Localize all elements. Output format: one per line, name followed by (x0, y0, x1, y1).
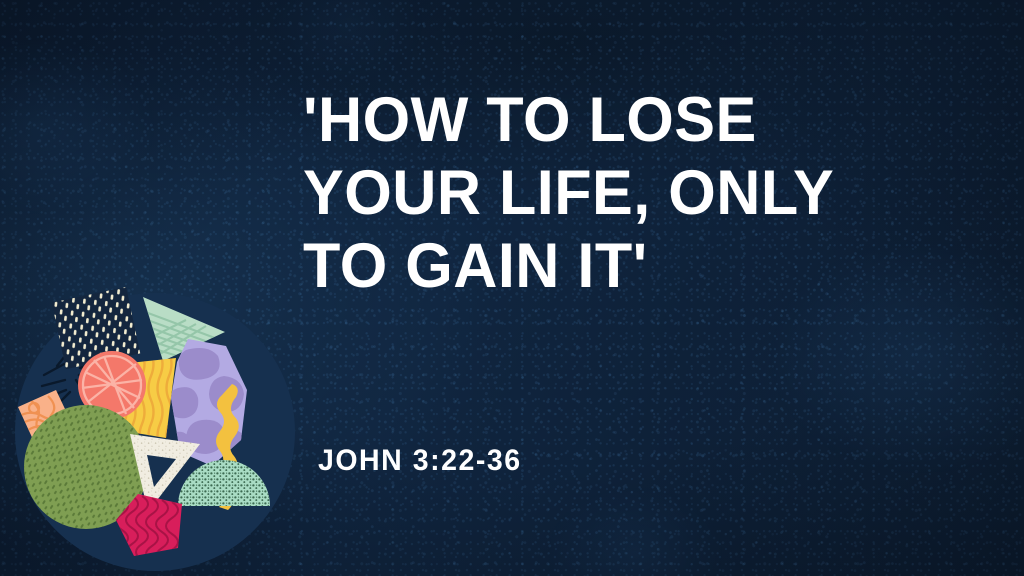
title-line-1: 'HOW TO LOSE (303, 84, 982, 157)
abstract-shapes-collage (0, 280, 320, 576)
title-line-3: TO GAIN IT' (303, 230, 982, 303)
scripture-reference: JOHN 3:22-36 (318, 444, 522, 478)
title-slide: 'HOW TO LOSE YOUR LIFE, ONLY TO GAIN IT'… (0, 0, 1024, 576)
title-line-2: YOUR LIFE, ONLY (303, 157, 982, 230)
slide-title: 'HOW TO LOSE YOUR LIFE, ONLY TO GAIN IT' (303, 84, 1003, 303)
